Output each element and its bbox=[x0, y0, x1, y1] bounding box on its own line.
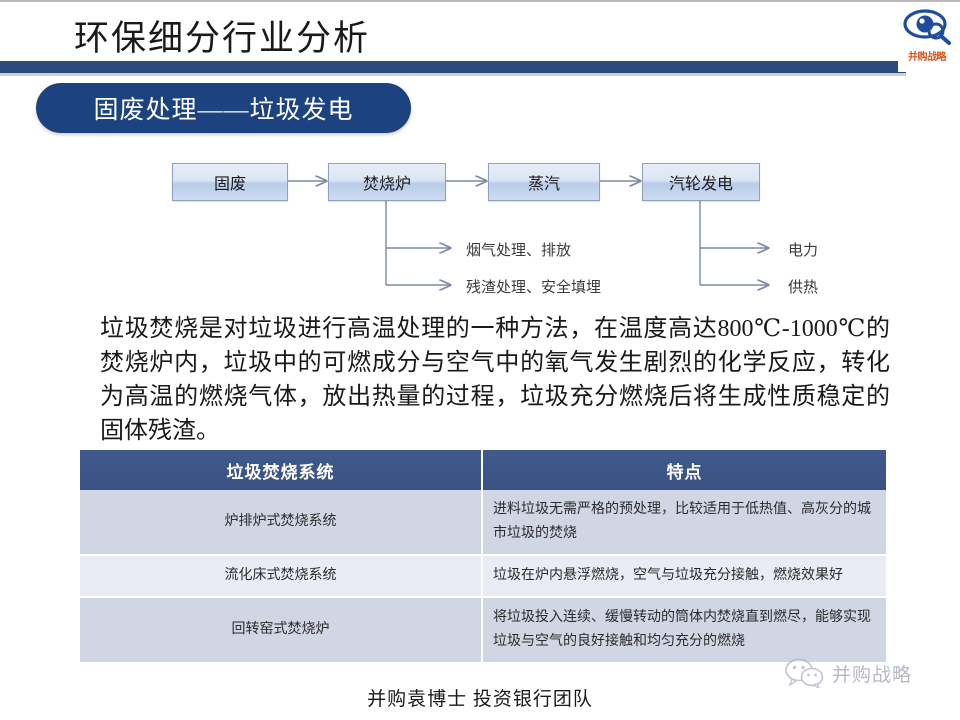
table-row: 炉排炉式焚烧系统 进料垃圾无需严格的预处理，比较适用于低热值、高灰分的城市垃圾的… bbox=[80, 490, 886, 555]
flow-node-waste: 固废 bbox=[172, 163, 288, 201]
wechat-watermark-label: 并购战略 bbox=[832, 660, 912, 687]
flow-branch-label-power: 电力 bbox=[788, 239, 818, 260]
table-cell-feature: 垃圾在炉内悬浮燃烧，空气与垃圾充分接触，燃烧效果好 bbox=[482, 555, 886, 597]
table-row: 流化床式焚烧系统 垃圾在炉内悬浮燃烧，空气与垃圾充分接触，燃烧效果好 bbox=[80, 555, 886, 597]
flow-node-waste-label: 固废 bbox=[214, 170, 246, 194]
flow-branch-label-residue: 残渣处理、安全填埋 bbox=[466, 276, 601, 297]
section-badge: 固废处理——垃圾发电 bbox=[36, 83, 411, 133]
brand-logo-text: 并购战略 bbox=[898, 48, 956, 63]
table-cell-system: 回转窑式焚烧炉 bbox=[80, 597, 482, 663]
slide-canvas: 环保细分行业分析 并购战略 固废处理——垃圾发电 bbox=[0, 0, 960, 720]
flow-branch-label-fluegas: 烟气处理、排放 bbox=[466, 239, 571, 260]
table-header-features: 特点 bbox=[482, 450, 886, 490]
table-cell-system: 流化床式焚烧系统 bbox=[80, 555, 482, 597]
page-title: 环保细分行业分析 bbox=[74, 10, 370, 61]
header-accent-bar-shadow bbox=[0, 73, 906, 76]
flow-node-steam-label: 蒸汽 bbox=[528, 170, 560, 194]
flow-node-turbine: 汽轮发电 bbox=[642, 163, 760, 201]
table-cell-system: 炉排炉式焚烧系统 bbox=[80, 490, 482, 555]
brand-logo: 并购战略 bbox=[898, 4, 956, 72]
table-row: 回转窑式焚烧炉 将垃圾投入连续、缓慢转动的筒体内焚烧直到燃尽，能够实现垃圾与空气… bbox=[80, 597, 886, 663]
eye-magnifier-icon bbox=[898, 4, 956, 50]
top-divider-rule bbox=[0, 0, 960, 2]
flow-branch-label-heat: 供热 bbox=[788, 276, 818, 297]
table-header-row: 垃圾焚烧系统 特点 bbox=[80, 450, 886, 490]
flow-node-incinerator-label: 焚烧炉 bbox=[363, 170, 411, 194]
process-flowchart: 固废 焚烧炉 蒸汽 汽轮发电 烟气处理、排放 残渣处理、安全填埋 电力 供热 bbox=[0, 148, 960, 308]
body-paragraph: 垃圾焚烧是对垃圾进行高温处理的一种方法，在温度高达800℃-1000℃的焚烧炉内… bbox=[100, 312, 890, 448]
flow-node-turbine-label: 汽轮发电 bbox=[669, 170, 733, 194]
table-cell-feature: 进料垃圾无需严格的预处理，比较适用于低热值、高灰分的城市垃圾的焚烧 bbox=[482, 490, 886, 555]
table-header-system: 垃圾焚烧系统 bbox=[80, 450, 482, 490]
incineration-systems-table: 垃圾焚烧系统 特点 炉排炉式焚烧系统 进料垃圾无需严格的预处理，比较适用于低热值… bbox=[80, 450, 886, 664]
header-accent-bar bbox=[0, 61, 906, 73]
table-cell-feature: 将垃圾投入连续、缓慢转动的筒体内焚烧直到燃尽，能够实现垃圾与空气的良好接触和均匀… bbox=[482, 597, 886, 663]
flow-node-incinerator: 焚烧炉 bbox=[328, 163, 446, 201]
flow-node-steam: 蒸汽 bbox=[488, 163, 600, 201]
section-badge-label: 固废处理——垃圾发电 bbox=[93, 90, 353, 126]
slide-footer: 并购袁博士 投资银行团队 bbox=[0, 684, 960, 711]
